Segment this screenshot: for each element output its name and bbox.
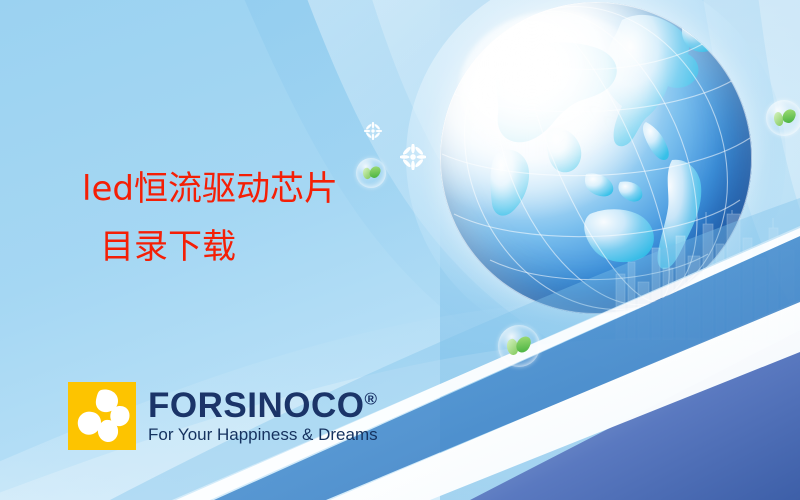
bubble-leaf-icon-bottom: [498, 325, 540, 367]
logo-text-block: FORSINOCO® For Your Happiness & Dreams: [148, 388, 378, 445]
pinwheel-petals: [68, 382, 136, 450]
four-petal-pinwheel-icon: [68, 382, 136, 450]
brand-name-text: FORSINOCO: [148, 386, 364, 425]
brand-name: FORSINOCO®: [148, 388, 378, 424]
brand-logo[interactable]: FORSINOCO® For Your Happiness & Dreams: [68, 382, 378, 450]
bubble-leaf-icon-right: [766, 100, 800, 136]
promo-banner: led恒流驱动芯片 目录下载 FORSINOCO® For Your Happi…: [0, 0, 800, 500]
bubble-leaf-icon-left: [356, 158, 386, 188]
brand-tagline: For Your Happiness & Dreams: [148, 425, 378, 445]
headline-line-1: led恒流驱动芯片: [82, 169, 338, 209]
headline-line-2: 目录下载: [100, 218, 338, 276]
starburst-large-icon: [400, 144, 426, 170]
promo-headline: led恒流驱动芯片 目录下载: [82, 160, 338, 276]
starburst-small-icon: [364, 122, 382, 140]
registered-trademark-icon: ®: [364, 389, 377, 408]
